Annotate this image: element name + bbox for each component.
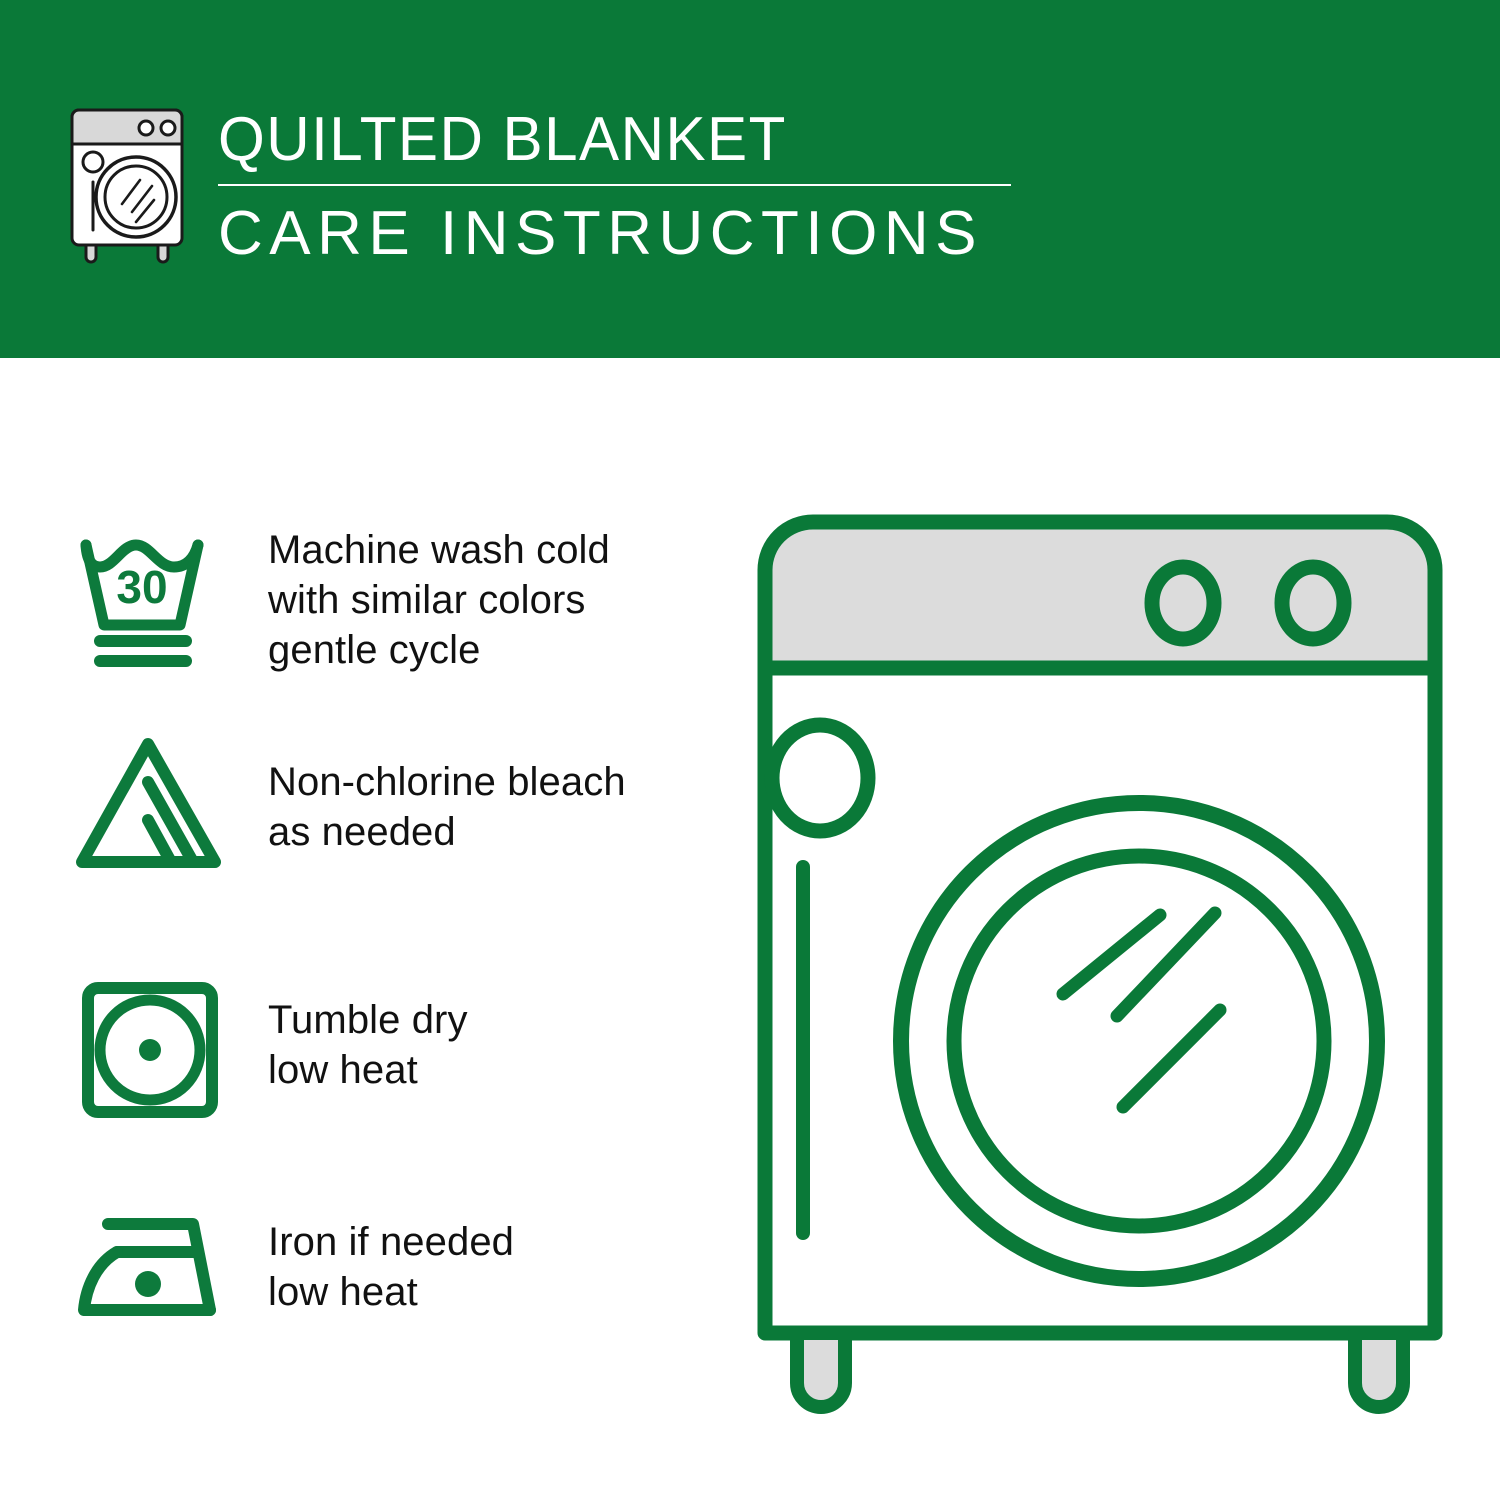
care-label-line: Iron if needed	[268, 1217, 514, 1267]
leg-left	[797, 1333, 845, 1407]
care-label-line: with similar colors	[268, 575, 610, 625]
control-panel	[765, 522, 1435, 668]
care-row-tumble-dry: Tumble dry low heat	[70, 955, 710, 1135]
care-label-bleach: Non-chlorine bleach as needed	[268, 757, 626, 857]
care-row-machine-wash: 30 Machine wash cold with similar colors…	[70, 515, 710, 685]
care-label-machine-wash: Machine wash cold with similar colors ge…	[268, 525, 610, 675]
page-title: QUILTED BLANKET	[218, 104, 994, 176]
care-label-line: Machine wash cold	[268, 525, 610, 575]
door-reflection-lines	[1063, 913, 1220, 1107]
care-label-line: low heat	[268, 1045, 468, 1095]
header-text-block: QUILTED BLANKET CARE INSTRUCTIONS	[218, 104, 1018, 264]
detergent-port	[772, 725, 868, 831]
iron-low-heat-icon	[70, 1182, 240, 1352]
care-label-line: as needed	[268, 807, 626, 857]
care-label-line: Tumble dry	[268, 995, 468, 1045]
header-band: QUILTED BLANKET CARE INSTRUCTIONS	[0, 0, 1500, 358]
title-divider	[218, 184, 1011, 186]
non-chlorine-bleach-triangle-icon	[70, 722, 240, 892]
wash-tub-30-gentle-icon: 30	[70, 515, 240, 685]
front-load-washing-machine-illustration	[735, 495, 1465, 1415]
washing-machine-icon	[64, 104, 194, 264]
door-inner-ring	[954, 856, 1324, 1226]
care-row-iron: Iron if needed low heat	[70, 1182, 710, 1352]
wash-temperature-value: 30	[116, 561, 167, 613]
care-row-bleach: Non-chlorine bleach as needed	[70, 722, 710, 892]
care-label-line: gentle cycle	[268, 625, 610, 675]
leg-right	[1355, 1333, 1403, 1407]
care-label-line: low heat	[268, 1267, 514, 1317]
tumble-dry-low-icon	[70, 960, 240, 1130]
care-label-tumble-dry: Tumble dry low heat	[268, 995, 468, 1095]
door-outer-ring	[901, 803, 1377, 1279]
care-instructions-infographic: QUILTED BLANKET CARE INSTRUCTIONS 30	[0, 0, 1500, 1500]
care-label-line: Non-chlorine bleach	[268, 757, 626, 807]
page-subtitle: CARE INSTRUCTIONS	[218, 200, 1018, 268]
care-label-iron: Iron if needed low heat	[268, 1217, 514, 1317]
